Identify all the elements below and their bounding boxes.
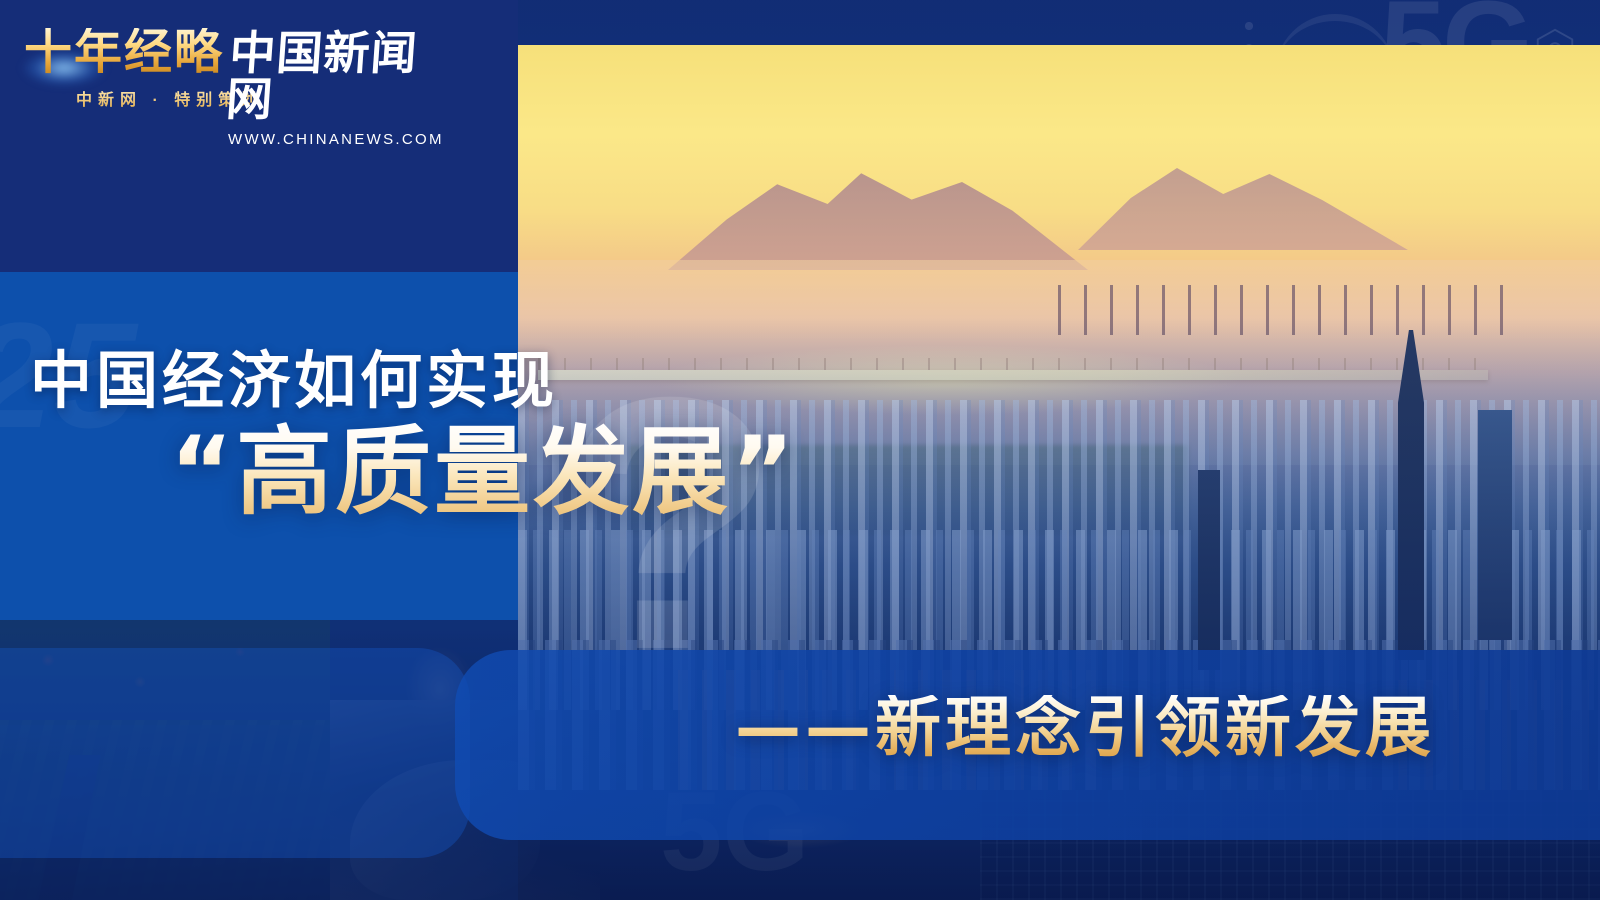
outlet-url: WWW.CHINANEWS.COM: [228, 131, 438, 148]
outlet-brand[interactable]: 中国新闻网 WWW.CHINANEWS.COM: [228, 30, 438, 148]
left-rounded-panel: [0, 648, 470, 858]
poster-canvas: 5G 25 5G ? 十年经略 中: [0, 0, 1600, 900]
headline-line-2: “高质量发展”: [170, 420, 797, 526]
outlet-name: 中国新闻网: [225, 30, 441, 122]
headline-line-1: 中国经济如何实现: [30, 350, 558, 412]
headline-subtitle: ——新理念引领新发展: [735, 695, 1435, 761]
